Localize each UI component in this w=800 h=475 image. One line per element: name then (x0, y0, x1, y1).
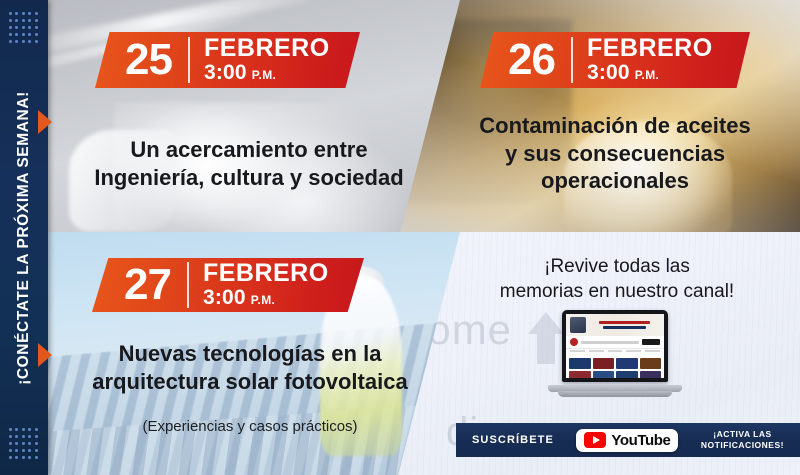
date-day-27: 27 (124, 263, 171, 307)
promo-headline-line2: memorias en nuestro canal! (452, 280, 782, 305)
sidebar-vertical-headline: ¡CONÉCTATE LA PRÓXIMA SEMANA! (15, 91, 33, 385)
laptop-screen (566, 314, 664, 378)
dot-pattern-top (9, 12, 41, 47)
triangle-arrow-icon-2 (38, 343, 52, 367)
date-time-3: 3:00 (203, 286, 246, 310)
date-divider (187, 262, 189, 308)
laptop-foot (558, 391, 672, 397)
channel-avatar (570, 338, 578, 346)
notification-label-line1: ¡ACTIVA LAS (701, 429, 784, 440)
dot-pattern-bottom (9, 428, 41, 463)
session-title-2-line2: y sus consecuencias (440, 140, 790, 168)
date-banner-session-1: 25 FEBRERO 3:00 P.M. (95, 32, 360, 88)
date-time-row-2: 3:00 P.M. (587, 61, 713, 85)
laptop-lid (562, 310, 668, 382)
session-title-1: Un acercamiento entre Ingeniería, cultur… (54, 136, 444, 191)
promo-headline-line1: ¡Revive todas las (452, 255, 782, 280)
session-title-2-line1: Contaminación de aceites (440, 112, 790, 140)
promo-graphic: Home ding ¡CONÉCTATE LA PRÓXIMA SEMANA! (0, 0, 800, 475)
session-title-1-line2: Ingeniería, cultura y sociedad (54, 164, 444, 192)
date-meridiem-3: P.M. (251, 293, 275, 307)
channel-subscribe-button (642, 339, 660, 345)
channel-tabs (566, 349, 664, 356)
date-meridiem-2: P.M. (635, 68, 659, 82)
session-subtitle-3: (Experiencias y casos prácticos) (48, 418, 452, 435)
date-time-2: 3:00 (587, 61, 630, 85)
date-month-3: FEBRERO (203, 260, 329, 286)
session-title-3-line1: Nuevas tecnologías en la (48, 340, 452, 368)
laptop-illustration (548, 310, 682, 408)
date-details-3: FEBRERO 3:00 P.M. (203, 260, 329, 310)
subscribe-label: SUSCRÍBETE (472, 434, 554, 446)
session-title-2-line3: operacionales (440, 167, 790, 195)
date-banner-session-2: 26 FEBRERO 3:00 P.M. (480, 32, 750, 88)
date-month-1: FEBRERO (204, 35, 330, 61)
date-time-1: 3:00 (204, 61, 247, 85)
date-day-26: 26 (508, 38, 555, 82)
video-thumbnail-grid (566, 356, 664, 378)
date-month-2: FEBRERO (587, 35, 713, 61)
youtube-play-icon (584, 432, 606, 448)
youtube-cta-bar: SUSCRÍBETE YouTube ¡ACTIVA LAS NOTIFICAC… (456, 423, 800, 457)
session-title-3-line2: arquitectura solar fotovoltaica (48, 368, 452, 396)
date-day-25: 25 (125, 38, 172, 82)
promo-headline: ¡Revive todas las memorias en nuestro ca… (452, 255, 782, 304)
channel-banner-photo (570, 317, 586, 333)
youtube-logo-badge[interactable]: YouTube (576, 429, 678, 452)
channel-header-row (566, 336, 664, 349)
session-title-2: Contaminación de aceites y sus consecuen… (440, 112, 790, 195)
triangle-arrow-icon-1 (38, 110, 52, 134)
session-title-3: Nuevas tecnologías en la arquitectura so… (48, 340, 452, 395)
date-divider (188, 37, 190, 83)
date-divider (571, 37, 573, 83)
date-details-2: FEBRERO 3:00 P.M. (587, 35, 713, 85)
notification-label-line2: NOTIFICACIONES! (701, 440, 784, 451)
date-meridiem-1: P.M. (252, 68, 276, 82)
date-time-row-3: 3:00 P.M. (203, 286, 329, 310)
date-time-row-1: 3:00 P.M. (204, 61, 330, 85)
channel-banner (566, 314, 664, 336)
channel-name-placeholder (581, 341, 639, 344)
notification-label: ¡ACTIVA LAS NOTIFICACIONES! (701, 429, 784, 450)
session-title-1-line1: Un acercamiento entre (54, 136, 444, 164)
date-banner-session-3: 27 FEBRERO 3:00 P.M. (92, 258, 364, 312)
left-sidebar: ¡CONÉCTATE LA PRÓXIMA SEMANA! (0, 0, 48, 475)
date-details-1: FEBRERO 3:00 P.M. (204, 35, 330, 85)
youtube-wordmark: YouTube (611, 432, 670, 449)
channel-banner-text (589, 321, 660, 329)
